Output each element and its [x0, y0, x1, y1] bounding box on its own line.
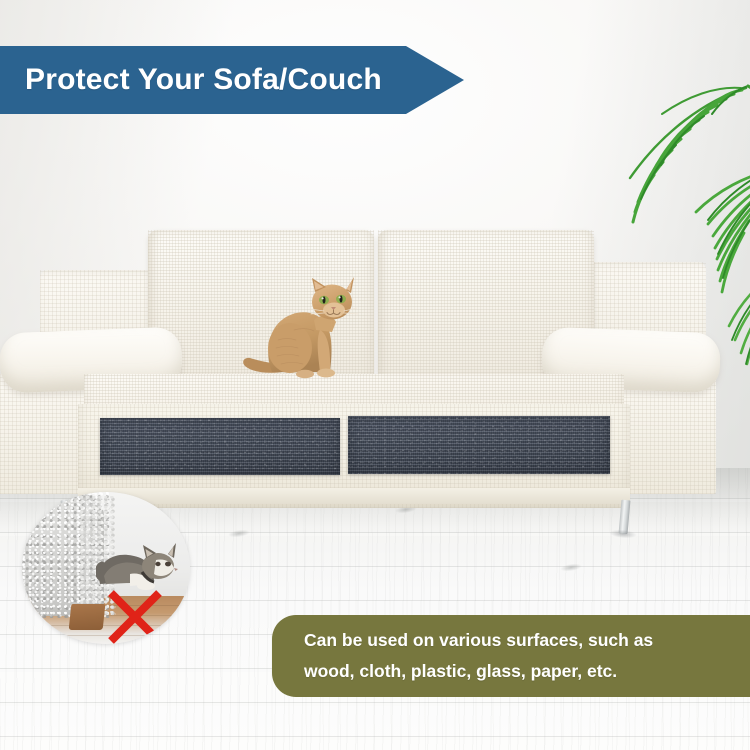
scratch-mat-right[interactable] — [348, 416, 610, 474]
caption-line-1: Can be used on various surfaces, such as — [304, 625, 750, 656]
cat-icon — [236, 268, 366, 390]
x-mark-icon — [104, 588, 166, 644]
scratch-mat-left[interactable] — [100, 418, 340, 475]
page-title: Protect Your Sofa/Couch — [25, 63, 382, 97]
caption-line-2: wood, cloth, plastic, glass, paper, etc. — [304, 656, 750, 687]
sofa-wood-foot — [69, 604, 106, 630]
usage-caption-box: Can be used on various surfaces, such as… — [272, 615, 750, 697]
headline-banner: Protect Your Sofa/Couch — [0, 46, 464, 114]
scratched-sofa-inset — [22, 492, 190, 644]
product-image-canvas: Protect Your Sofa/Couch — [0, 0, 750, 750]
